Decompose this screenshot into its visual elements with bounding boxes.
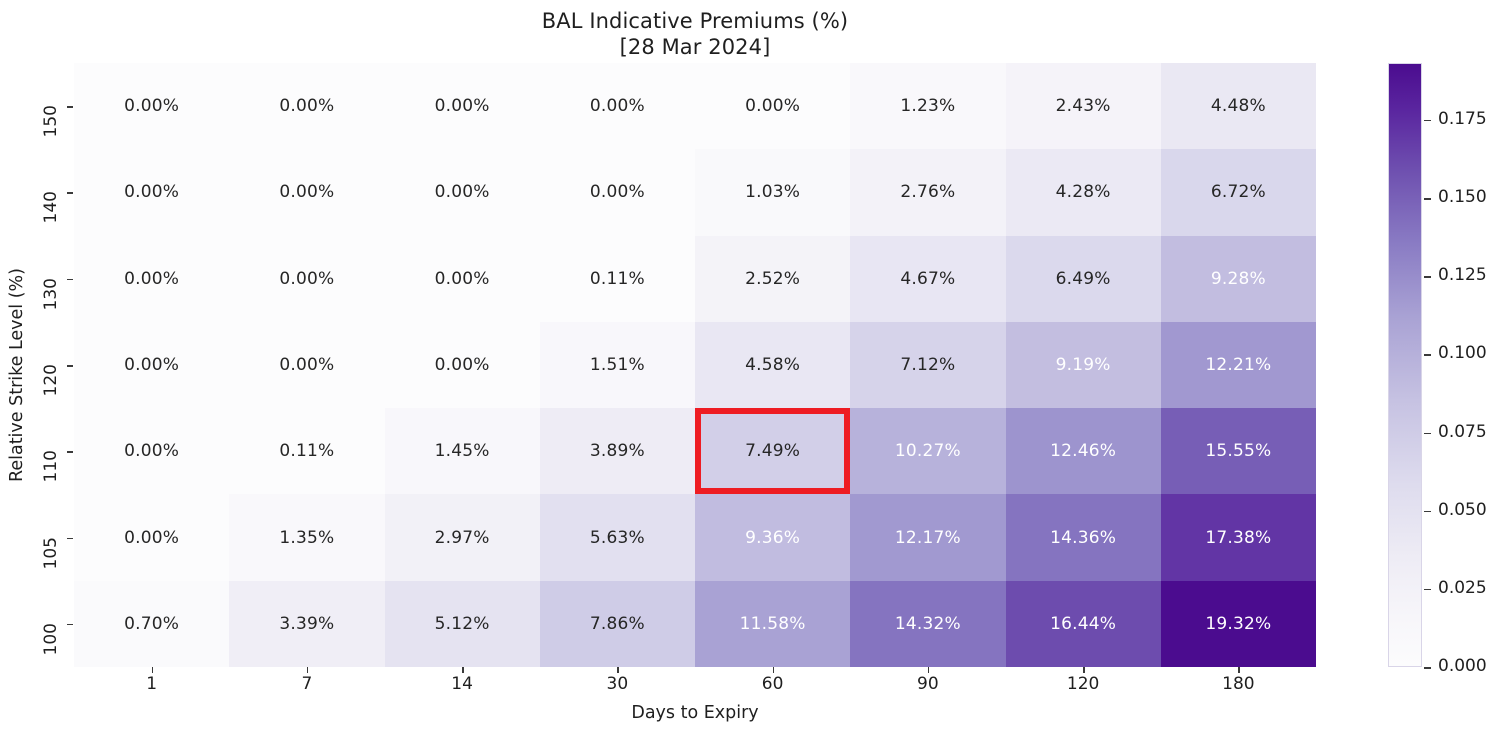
x-axis-title: Days to Expiry	[74, 703, 1316, 723]
colorbar-tick-mark	[1424, 354, 1431, 356]
heatmap-cell: 7.86%	[540, 581, 695, 667]
x-tick-mark	[1083, 667, 1085, 673]
colorbar-tick-mark	[1424, 667, 1431, 669]
heatmap-cell: 9.19%	[1006, 322, 1161, 408]
heatmap-cell: 2.97%	[385, 494, 540, 580]
heatmap-grid: 0.00%0.00%0.00%0.00%0.00%1.23%2.43%4.48%…	[74, 63, 1316, 667]
heatmap-cell: 4.48%	[1161, 63, 1316, 149]
x-tick-mark	[307, 667, 309, 673]
heatmap-cell: 1.35%	[229, 494, 384, 580]
x-tick-mark	[462, 667, 464, 673]
heatmap-cell: 0.00%	[229, 322, 384, 408]
x-tick-label: 1	[112, 674, 192, 694]
y-tick-label: 110	[41, 450, 61, 510]
heatmap-cell: 0.00%	[74, 236, 229, 322]
heatmap-cell: 2.76%	[850, 149, 1005, 235]
colorbar-tick-mark	[1424, 276, 1431, 278]
heatmap-cell: 5.12%	[385, 581, 540, 667]
y-tick-mark	[67, 192, 73, 194]
heatmap-cell: 0.00%	[385, 149, 540, 235]
colorbar-tick-label: 0.025	[1438, 578, 1500, 598]
heatmap-cell: 9.36%	[695, 494, 850, 580]
heatmap-figure: BAL Indicative Premiums (%) [28 Mar 2024…	[0, 0, 1500, 734]
heatmap-cell: 4.67%	[850, 236, 1005, 322]
heatmap-cell: 5.63%	[540, 494, 695, 580]
heatmap-cell: 12.17%	[850, 494, 1005, 580]
heatmap-cell: 7.12%	[850, 322, 1005, 408]
x-tick-label: 30	[577, 674, 657, 694]
colorbar-tick-label: 0.175	[1438, 109, 1500, 129]
heatmap-cell: 0.00%	[385, 322, 540, 408]
heatmap-cell: 3.89%	[540, 408, 695, 494]
y-tick-mark	[67, 106, 73, 108]
heatmap-cell: 0.11%	[540, 236, 695, 322]
heatmap-cell: 0.00%	[229, 63, 384, 149]
heatmap-cell: 0.00%	[74, 149, 229, 235]
x-tick-label: 60	[733, 674, 813, 694]
colorbar-tick-mark	[1424, 120, 1431, 122]
y-axis-title: Relative Strike Level (%)	[7, 73, 27, 677]
heatmap-cell: 0.00%	[74, 322, 229, 408]
y-tick-label: 120	[41, 364, 61, 424]
heatmap-cell: 11.58%	[695, 581, 850, 667]
y-tick-label: 130	[41, 278, 61, 338]
colorbar-tick-label: 0.150	[1438, 187, 1500, 207]
colorbar-tick-mark	[1424, 198, 1431, 200]
heatmap-cell: 3.39%	[229, 581, 384, 667]
heatmap-cell: 0.00%	[385, 236, 540, 322]
heatmap-cell: 1.23%	[850, 63, 1005, 149]
heatmap-cell: 16.44%	[1006, 581, 1161, 667]
heatmap-cell: 0.00%	[385, 63, 540, 149]
heatmap-cell: 9.28%	[1161, 236, 1316, 322]
heatmap-cell: 14.36%	[1006, 494, 1161, 580]
heatmap-cell: 0.00%	[229, 236, 384, 322]
heatmap-cell: 17.38%	[1161, 494, 1316, 580]
heatmap-cell: 4.28%	[1006, 149, 1161, 235]
y-tick-mark	[67, 538, 73, 540]
colorbar-tick-mark	[1424, 433, 1431, 435]
x-tick-label: 14	[422, 674, 502, 694]
x-tick-mark	[152, 667, 154, 673]
heatmap-cell: 0.00%	[74, 408, 229, 494]
heatmap-cell: 6.72%	[1161, 149, 1316, 235]
heatmap-cell: 0.00%	[540, 63, 695, 149]
y-tick-label: 105	[41, 537, 61, 597]
colorbar-tick-mark	[1424, 589, 1431, 591]
y-tick-label: 140	[41, 191, 61, 251]
x-tick-mark	[1238, 667, 1240, 673]
heatmap-cell: 0.00%	[540, 149, 695, 235]
heatmap-cell: 19.32%	[1161, 581, 1316, 667]
heatmap-cell: 0.11%	[229, 408, 384, 494]
colorbar-tick-label: 0.100	[1438, 343, 1500, 363]
heatmap-cell: 1.03%	[695, 149, 850, 235]
heatmap-cell: 7.49%	[695, 408, 850, 494]
colorbar-tick-label: 0.075	[1438, 422, 1500, 442]
heatmap-cell: 2.43%	[1006, 63, 1161, 149]
chart-title: BAL Indicative Premiums (%) [28 Mar 2024…	[0, 8, 1390, 60]
y-tick-mark	[67, 451, 73, 453]
y-tick-mark	[67, 279, 73, 281]
x-tick-mark	[928, 667, 930, 673]
heatmap-cell: 0.00%	[74, 63, 229, 149]
y-tick-label: 150	[41, 105, 61, 165]
y-tick-mark	[67, 365, 73, 367]
x-tick-mark	[617, 667, 619, 673]
heatmap-cell: 0.00%	[695, 63, 850, 149]
colorbar	[1388, 63, 1422, 667]
heatmap-cell: 0.00%	[74, 494, 229, 580]
x-tick-label: 180	[1198, 674, 1278, 694]
heatmap-cell: 10.27%	[850, 408, 1005, 494]
colorbar-tick-label: 0.050	[1438, 500, 1500, 520]
heatmap-cell: 12.21%	[1161, 322, 1316, 408]
heatmap-cell: 1.51%	[540, 322, 695, 408]
heatmap-cell: 2.52%	[695, 236, 850, 322]
x-tick-label: 120	[1043, 674, 1123, 694]
heatmap-cell: 1.45%	[385, 408, 540, 494]
heatmap-cell: 6.49%	[1006, 236, 1161, 322]
x-tick-mark	[773, 667, 775, 673]
y-tick-mark	[67, 624, 73, 626]
x-tick-label: 7	[267, 674, 347, 694]
y-tick-label: 100	[41, 623, 61, 683]
heatmap-cell: 0.70%	[74, 581, 229, 667]
x-tick-label: 90	[888, 674, 968, 694]
heatmap-cell: 12.46%	[1006, 408, 1161, 494]
colorbar-tick-mark	[1424, 511, 1431, 513]
heatmap-cell: 0.00%	[229, 149, 384, 235]
heatmap-cell: 14.32%	[850, 581, 1005, 667]
heatmap-cell: 15.55%	[1161, 408, 1316, 494]
colorbar-tick-label: 0.125	[1438, 265, 1500, 285]
colorbar-tick-label: 0.000	[1438, 656, 1500, 676]
heatmap-cell: 4.58%	[695, 322, 850, 408]
